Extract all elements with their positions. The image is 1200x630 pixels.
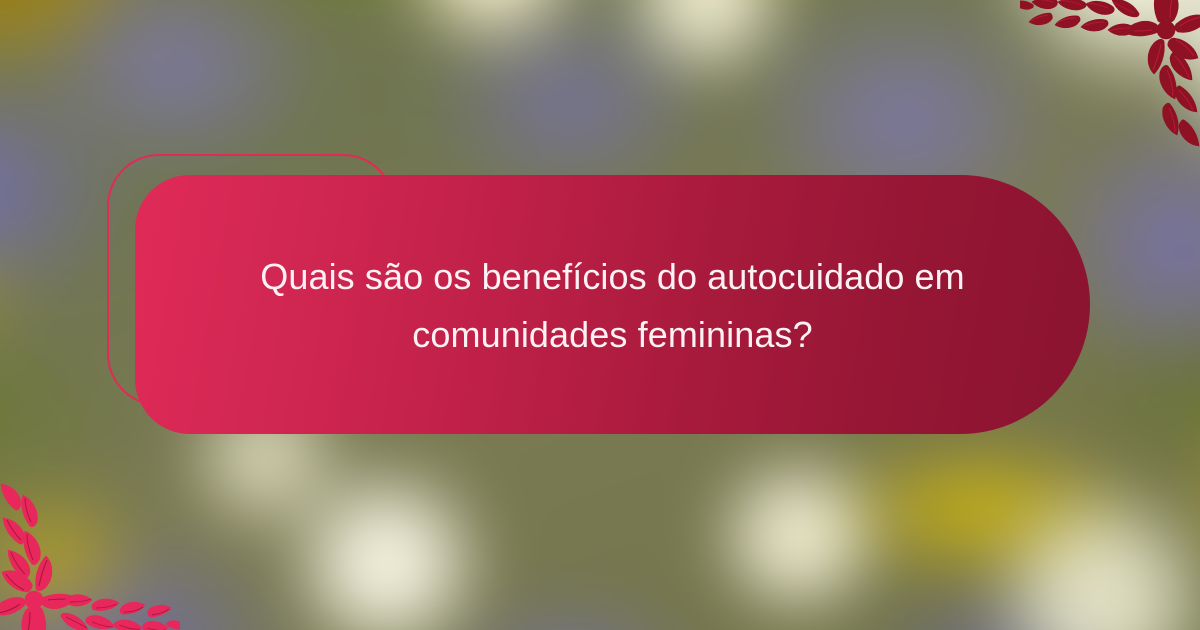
share-card-canvas: Quais são os benefícios do autocuidado e… [0, 0, 1200, 630]
question-text: Quais são os benefícios do autocuidado e… [173, 248, 1053, 364]
card-stack: Quais são os benefícios do autocuidado e… [0, 0, 1200, 630]
question-card: Quais são os benefícios do autocuidado e… [135, 175, 1090, 434]
